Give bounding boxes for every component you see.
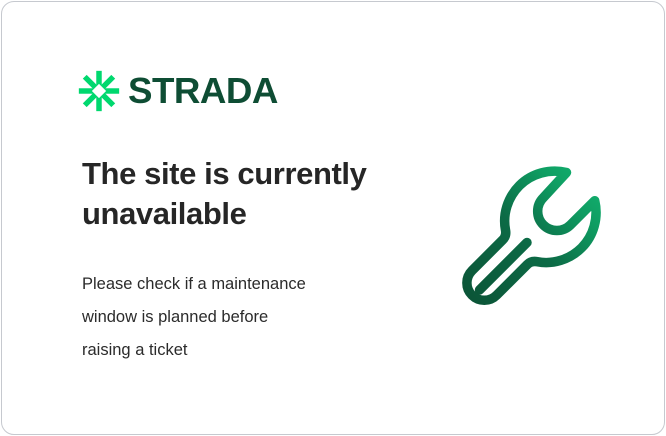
description-line: window is planned before xyxy=(82,301,392,334)
description-line: Please check if a maintenance xyxy=(82,268,392,301)
brand-wordmark: STRADA xyxy=(128,73,278,109)
wrench-icon xyxy=(454,152,618,316)
page-description: Please check if a maintenance window is … xyxy=(82,268,392,367)
page-title: The site is currently unavailable xyxy=(82,154,412,234)
asterisk-star-icon xyxy=(78,70,120,112)
description-line: raising a ticket xyxy=(82,334,392,367)
brand-logo: STRADA xyxy=(78,70,275,112)
error-page: STRADA The site is currently unavailable… xyxy=(0,0,666,436)
status-card: STRADA The site is currently unavailable… xyxy=(1,1,665,435)
